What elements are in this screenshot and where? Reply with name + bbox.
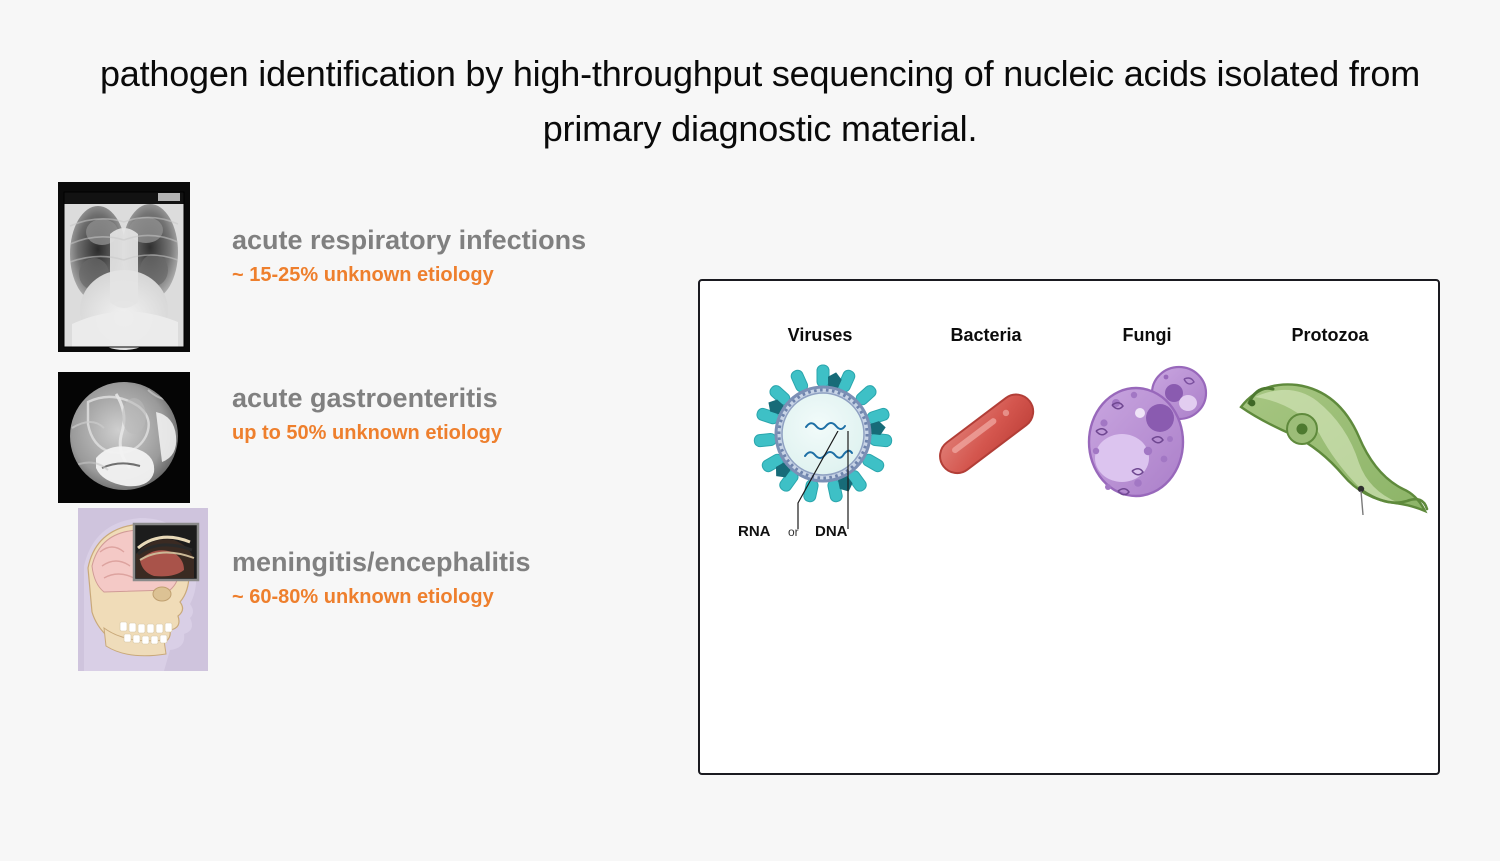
condition-etiology: ~ 15-25% unknown etiology: [232, 262, 586, 288]
condition-name: meningitis/encephalitis: [232, 546, 531, 578]
callout-label-dna: DNA: [815, 523, 848, 540]
budding-yeast-icon: [1078, 355, 1218, 500]
slide-root: pathogen identification by high-throughp…: [0, 0, 1500, 861]
condition-name: acute respiratory infections: [232, 224, 586, 256]
pathogen-panel: Viruses Bacteria Fungi Protozoa: [698, 279, 1440, 775]
category-label-viruses: Viruses: [788, 325, 853, 346]
condition-text-gastroenteritis: acute gastroenteritis up to 50% unknown …: [232, 382, 502, 446]
rod-bacterium-icon: [922, 373, 1050, 493]
flagellate-protozoan-icon: [1235, 363, 1430, 528]
category-label-fungi: Fungi: [1123, 325, 1172, 346]
condition-etiology: ~ 60-80% unknown etiology: [232, 584, 531, 610]
condition-text-meningitis: meningitis/encephalitis ~ 60-80% unknown…: [232, 546, 531, 610]
category-label-protozoa: Protozoa: [1291, 325, 1368, 346]
virus-nucleic-acid-callout: [720, 431, 920, 561]
condition-name: acute gastroenteritis: [232, 382, 502, 414]
callout-label-rna: RNA: [738, 523, 771, 540]
abdominal-contrast-xray-thumbnail: [58, 372, 190, 503]
page-title: pathogen identification by high-throughp…: [60, 46, 1460, 156]
chest-xray-thumbnail: [58, 182, 190, 352]
head-anatomy-meninges-thumbnail: [78, 508, 208, 671]
callout-label-or: or: [788, 525, 799, 539]
category-label-bacteria: Bacteria: [950, 325, 1021, 346]
condition-text-respiratory: acute respiratory infections ~ 15-25% un…: [232, 224, 586, 288]
condition-etiology: up to 50% unknown etiology: [232, 420, 502, 446]
